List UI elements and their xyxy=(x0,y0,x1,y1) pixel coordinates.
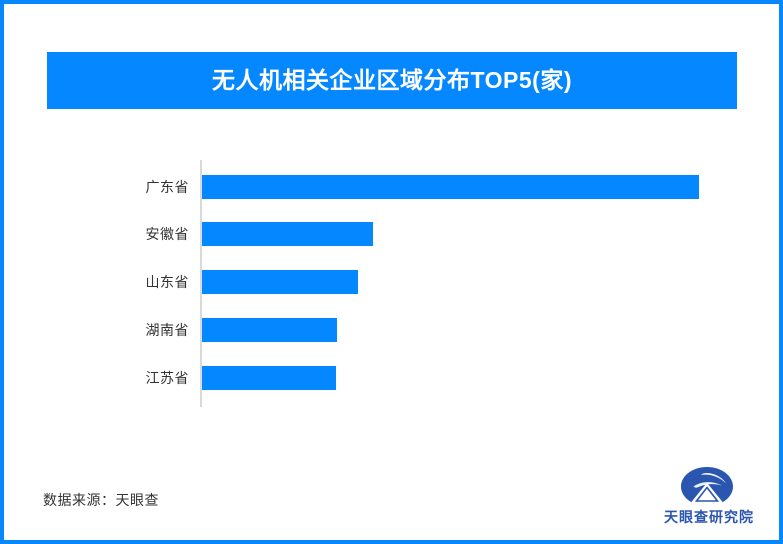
bar-fill[interactable] xyxy=(202,318,337,342)
bar-row: 山东省 xyxy=(4,270,783,294)
page-title: 无人机相关企业区域分布TOP5(家) xyxy=(212,69,572,92)
bar-track xyxy=(202,222,712,246)
brand-logo-text: 天眼查研究院 xyxy=(659,507,759,527)
bar-category-label: 广东省 xyxy=(64,175,189,199)
bar-row: 安徽省 xyxy=(4,222,783,246)
bar-fill[interactable] xyxy=(202,175,699,199)
bar-row: 湖南省 xyxy=(4,318,783,342)
bar-category-label: 湖南省 xyxy=(64,318,189,342)
bar-fill[interactable] xyxy=(202,366,336,390)
bar-track xyxy=(202,175,712,199)
bar-row: 江苏省 xyxy=(4,366,783,390)
data-source-label: 数据来源：天眼查 xyxy=(43,490,159,510)
chart-title-banner: 无人机相关企业区域分布TOP5(家) xyxy=(47,52,737,109)
bar-fill[interactable] xyxy=(202,270,358,294)
chart-page: 无人机相关企业区域分布TOP5(家) 广东省 安徽省 山东省 湖南省 xyxy=(0,0,783,544)
bar-track xyxy=(202,318,712,342)
bar-category-label: 安徽省 xyxy=(64,222,189,246)
bar-track xyxy=(202,270,712,294)
bar-track xyxy=(202,366,712,390)
bar-category-label: 江苏省 xyxy=(64,366,189,390)
bar-chart: 广东省 安徽省 山东省 湖南省 江苏省 xyxy=(4,154,783,414)
bar-fill[interactable] xyxy=(202,222,373,246)
brand-logo: 天眼查研究院 xyxy=(659,466,759,528)
bar-category-label: 山东省 xyxy=(64,270,189,294)
tianyancha-eagle-logo-icon xyxy=(679,466,735,506)
bar-row: 广东省 xyxy=(4,175,783,199)
